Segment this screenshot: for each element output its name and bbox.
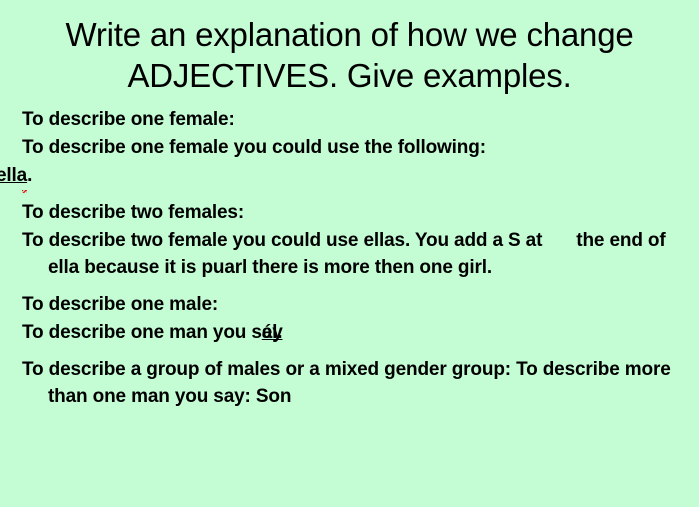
two-females-text-before-gap: To describe two female you could use ell…: [22, 230, 542, 251]
paragraph-describe-one-female-detail: To describe one female you could use the…: [22, 134, 677, 161]
paragraph-describe-one-male-heading: To describe one male:: [22, 291, 677, 318]
body-content: To describe one female: To describe one …: [0, 96, 699, 410]
title-line-1: Write an explanation of how we: [65, 16, 517, 53]
page-title: Write an explanation of how we change AD…: [0, 0, 699, 96]
paragraph-describe-one-male-detail: To describe one man you say él.: [22, 319, 677, 346]
ella-period: .: [27, 165, 32, 186]
paragraph-describe-two-females-detail: To describe two female you could use ell…: [22, 227, 677, 281]
paragraph-describe-two-females-heading: To describe two females:: [22, 199, 677, 226]
misspelled-word-ella: ella: [22, 162, 27, 189]
one-man-prefix: To describe one man you say: [22, 322, 288, 343]
paragraph-describe-one-female-heading: To describe one female:: [22, 106, 677, 133]
paragraph-describe-group-of-males: To describe a group of males or a mixed …: [22, 356, 677, 410]
slide: Write an explanation of how we change AD…: [0, 0, 699, 507]
paragraph-example-ella: ella.: [22, 162, 677, 189]
